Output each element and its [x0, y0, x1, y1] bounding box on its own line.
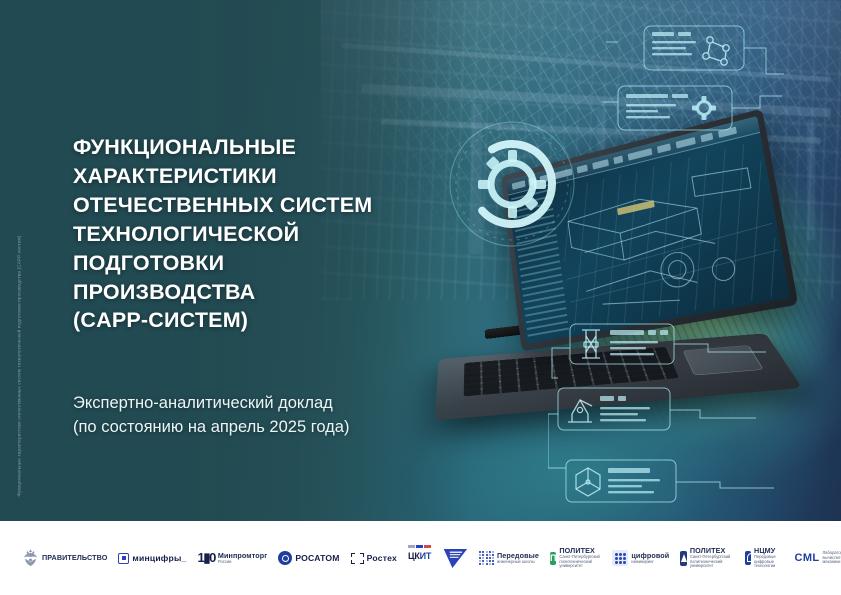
ncmu-wave-icon	[745, 551, 751, 565]
logo-digital-engineering-sub: инжиниринг	[631, 560, 669, 565]
logo-pish-sub: инженерные школы	[497, 560, 539, 565]
logo-politech-second: ПОЛИТЕХ Санкт-Петербургский политехничес…	[680, 545, 733, 571]
report-cover-page: ФУНКЦИОНАЛЬНЫЕ ХАРАКТЕРИСТИКИ ОТЕЧЕСТВЕН…	[0, 0, 841, 595]
page-subtitle: Экспертно-аналитический доклад (по состо…	[73, 392, 473, 440]
hud-cards-bottom	[548, 318, 838, 518]
cml-wordmark: CML	[794, 552, 819, 564]
network-nodes-icon	[703, 37, 729, 65]
pennant-flag-icon	[442, 547, 468, 570]
partner-logo-strip: ПРАВИТЕЛЬСТВО минцифры_ 1▮0 Минпромторг …	[0, 521, 841, 595]
logo-digital-engineering: цифровой инжиниринг	[612, 545, 669, 571]
logo-government-of-russia: ПРАВИТЕЛЬСТВО	[22, 545, 107, 571]
subtitle-line-1: Экспертно-аналитический доклад	[73, 392, 473, 416]
logo-rosatom-label: РОСАТОМ	[295, 553, 339, 563]
title-line-3: ОТЕЧЕСТВЕННЫХ СИСТЕМ	[73, 191, 453, 220]
logo-rosatom: РОСАТОМ	[278, 545, 339, 571]
logo-pish: Передовые инженерные школы	[479, 545, 539, 571]
title-line-1: ФУНКЦИОНАЛЬНЫЕ	[73, 133, 453, 162]
logo-rostec-label: Ростех	[367, 553, 397, 563]
robot-arm-icon	[568, 400, 592, 422]
logo-rostec: Ростех	[351, 545, 397, 571]
blue-grid-icon	[612, 550, 628, 566]
logo-minpromtorg: 1▮0 Минпромторг России	[198, 545, 268, 571]
logo-politech-sub: Санкт-Петербургский политехнический унив…	[559, 555, 601, 569]
title-line-2: ХАРАКТЕРИСТИКИ	[73, 162, 453, 191]
brackets-icon	[351, 553, 364, 564]
logo-ckit-label: ЦКИТ	[408, 551, 431, 561]
hud-text-lines	[626, 32, 696, 118]
tricolor-icon	[408, 545, 431, 548]
logo-digital-engineering-label: цифровой инжиниринг	[631, 552, 669, 565]
spine-text: Функциональные характеристики отечествен…	[17, 0, 22, 497]
logo-cml: CML Лаборатория вычислительной механики	[794, 545, 841, 571]
logo-minpromtorg-sub: России	[218, 560, 267, 565]
wireframe-cube-icon	[576, 468, 600, 496]
page-title: ФУНКЦИОНАЛЬНЫЕ ХАРАКТЕРИСТИКИ ОТЕЧЕСТВЕН…	[73, 133, 453, 335]
title-line-4: ТЕХНОЛОГИЧЕСКОЙ	[73, 220, 453, 249]
logo-ncmu: НЦМУ Передовые цифровые технологии	[745, 545, 784, 571]
cnc-machine-icon	[582, 330, 600, 358]
120-mark-icon: 1▮0	[198, 550, 215, 566]
hud-cards-top	[600, 8, 840, 143]
logo-ncmu-sub: Передовые цифровые технологии	[754, 555, 783, 569]
navy-arrow-icon	[680, 551, 687, 566]
gear-icon	[692, 96, 716, 120]
logo-government-label: ПРАВИТЕЛЬСТВО	[42, 554, 107, 562]
dot-grid-icon	[479, 551, 494, 566]
logo-politech-spbpu: П ПОЛИТЕХ Санкт-Петербургский политехнич…	[550, 545, 601, 571]
logo-pennant	[442, 545, 468, 571]
title-line-7: (CAPP-СИСТЕМ)	[73, 306, 453, 335]
logo-politech-label: ПОЛИТЕХ Санкт-Петербургский политехничес…	[559, 547, 601, 569]
title-line-6: ПРОИЗВОДСТВА	[73, 278, 453, 307]
gear-icon	[478, 150, 546, 218]
green-pi-icon: П	[550, 552, 556, 565]
double-headed-eagle-icon	[22, 548, 39, 569]
square-mark-icon	[118, 553, 129, 564]
cover-hero-artwork: ФУНКЦИОНАЛЬНЫЕ ХАРАКТЕРИСТИКИ ОТЕЧЕСТВЕН…	[0, 0, 841, 521]
logo-ncmu-label: НЦМУ Передовые цифровые технологии	[754, 547, 783, 569]
logo-mincifry-label: минцифры_	[132, 553, 186, 563]
title-line-5: ПОДГОТОВКИ	[73, 249, 453, 278]
logo-cml-sub: Лаборатория вычислительной механики	[823, 551, 841, 565]
subtitle-line-2: (по состоянию на апрель 2025 года)	[73, 416, 473, 440]
logo-pish-label: Передовые инженерные школы	[497, 552, 539, 565]
logo-ckit: ЦКИТ	[408, 545, 431, 571]
rosatom-circle-icon	[278, 551, 292, 565]
logo-politech-second-label: ПОЛИТЕХ Санкт-Петербургский политехничес…	[690, 547, 734, 569]
logo-politech-second-sub: Санкт-Петербургский политехнический унив…	[690, 555, 734, 569]
logo-minpromtorg-label: Минпромторг России	[218, 552, 267, 565]
logo-mincifry: минцифры_	[118, 545, 186, 571]
